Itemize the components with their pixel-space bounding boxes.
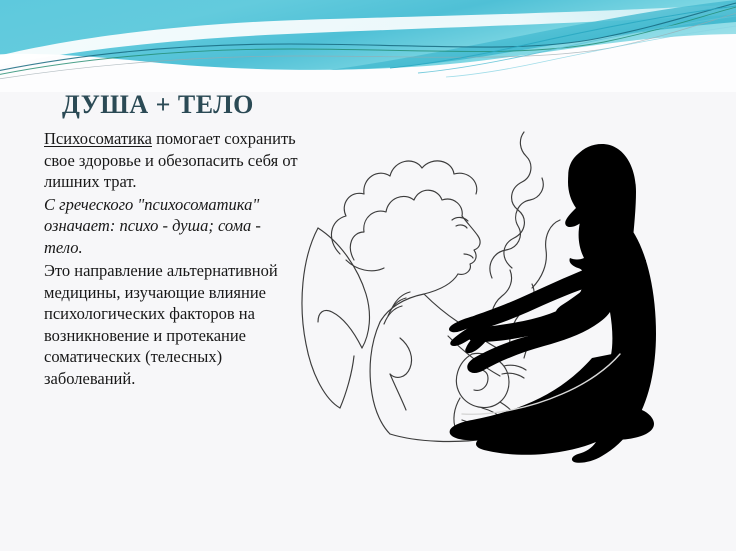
- keyword-psychosomatics: Психосоматика: [44, 129, 152, 148]
- page-title: ДУША + ТЕЛО: [62, 88, 302, 122]
- angel-hand-fingers-1: [504, 365, 526, 370]
- angel-eye: [456, 225, 467, 228]
- silhouette-hand-fingers: [449, 316, 488, 353]
- smoke-wisp-main: [504, 132, 531, 268]
- angel-wing-inner: [318, 228, 369, 348]
- illustration-line-figure: [302, 132, 560, 441]
- angel-hair-curls-inner: [350, 190, 462, 260]
- angel-neck-shoulder: [380, 274, 458, 322]
- angel-breast-curve: [390, 338, 412, 377]
- paragraph-greek-origin: С греческого "психосоматика" означает: п…: [44, 194, 302, 259]
- decorative-wave-banner: [0, 0, 736, 92]
- angel-lip: [464, 254, 473, 258]
- angel-chest-line: [424, 294, 458, 322]
- angel-body-fold: [390, 374, 406, 410]
- body-silhouette: [449, 144, 656, 463]
- slide-canvas: ДУША + ТЕЛО Психосоматика помогает сохра…: [0, 0, 736, 551]
- text-column: ДУША + ТЕЛО Психосоматика помогает сохра…: [44, 88, 302, 389]
- angel-wing-outer: [302, 228, 340, 408]
- angel-hair-strand-lower: [346, 260, 384, 271]
- angel-hand-fingers-2: [502, 373, 524, 378]
- paragraph-alternative-medicine: Это направление альтернативной медицины,…: [44, 260, 302, 389]
- angel-wing-lower-edge: [340, 356, 354, 408]
- smoke-wisp-second: [490, 178, 543, 278]
- soul-and-body-illustration: [296, 108, 726, 468]
- paragraph-definition: Психосоматика помогает сохранить свое зд…: [44, 128, 302, 193]
- smoke-wisp-third: [532, 220, 560, 288]
- angel-hair-curls: [331, 161, 476, 254]
- angel-feather-3: [384, 306, 402, 324]
- angel-torso-side: [370, 322, 390, 434]
- angel-wing-tip-fold: [318, 310, 362, 348]
